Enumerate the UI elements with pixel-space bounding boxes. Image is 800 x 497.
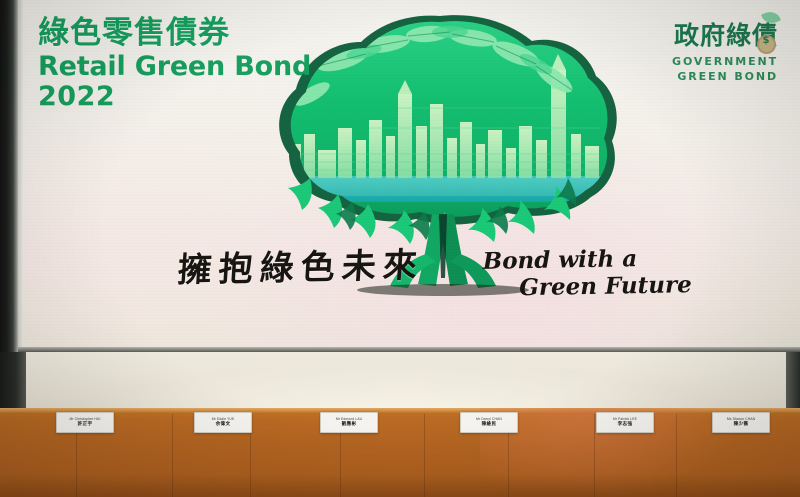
press-conference-photo: 綠色零售債券 Retail Green Bond 2022 政府綠債 GOVER…	[0, 0, 800, 497]
conference-room: Mr Christopher HUI 許正宇 Mr Eddie YUE 余偉文 …	[0, 352, 800, 497]
slogan-english-line2: Green Future	[483, 271, 692, 302]
slogan-english: Bond with a Green Future	[483, 244, 692, 302]
nameplate-4-chinese: 陳維民	[482, 422, 497, 428]
backdrop-title-block: 綠色零售債券 Retail Green Bond 2022	[38, 18, 311, 110]
nameplate-2-chinese: 余偉文	[216, 422, 231, 428]
screen-bezel-left	[0, 0, 18, 352]
nameplate-6-chinese: 陳少薇	[734, 422, 749, 428]
nameplate-panelist-2: Mr Eddie YUE 余偉文	[194, 412, 252, 433]
back-wall	[0, 352, 800, 414]
wall-left-shadow	[0, 352, 26, 414]
conference-desk	[0, 408, 800, 497]
desk-shadow	[0, 474, 800, 497]
presentation-backdrop: 綠色零售債券 Retail Green Bond 2022 政府綠債 GOVER…	[18, 0, 800, 352]
nameplate-panelist-4: Mr Darryl CHAN 陳維民	[460, 412, 518, 433]
nameplate-1-chinese: 許正宇	[78, 422, 93, 428]
slogan-chinese: 擁抱綠色未來	[176, 237, 426, 291]
government-green-bond-logo: 政府綠債 GOVERNMENT GREEN BOND	[672, 16, 778, 83]
title-chinese: 綠色零售債券	[38, 18, 311, 49]
gov-logo-en-line1: GOVERNMENT	[672, 55, 778, 68]
wall-right-shadow	[786, 352, 800, 414]
screen-bezel-inner	[18, 0, 23, 352]
nameplate-3-chinese: 劉應彬	[342, 422, 357, 428]
nameplate-5-chinese: 李志強	[618, 422, 633, 428]
nameplate-panelist-6: Ms Sharon CHAN 陳少薇	[712, 412, 770, 433]
gov-logo-en-line2: GREEN BOND	[672, 70, 778, 83]
nameplate-panelist-5: Mr Patrick LEE 李志強	[596, 412, 654, 433]
gov-logo-chinese: 政府綠債	[674, 16, 778, 52]
coin-icon	[757, 35, 776, 54]
nameplate-panelist-3: Mr Edmond LAU 劉應彬	[320, 412, 378, 433]
title-english: Retail Green Bond	[38, 53, 311, 80]
slogan-english-line1: Bond with a	[483, 245, 638, 275]
title-year: 2022	[38, 83, 311, 110]
nameplate-panelist-1: Mr Christopher HUI 許正宇	[56, 412, 114, 433]
